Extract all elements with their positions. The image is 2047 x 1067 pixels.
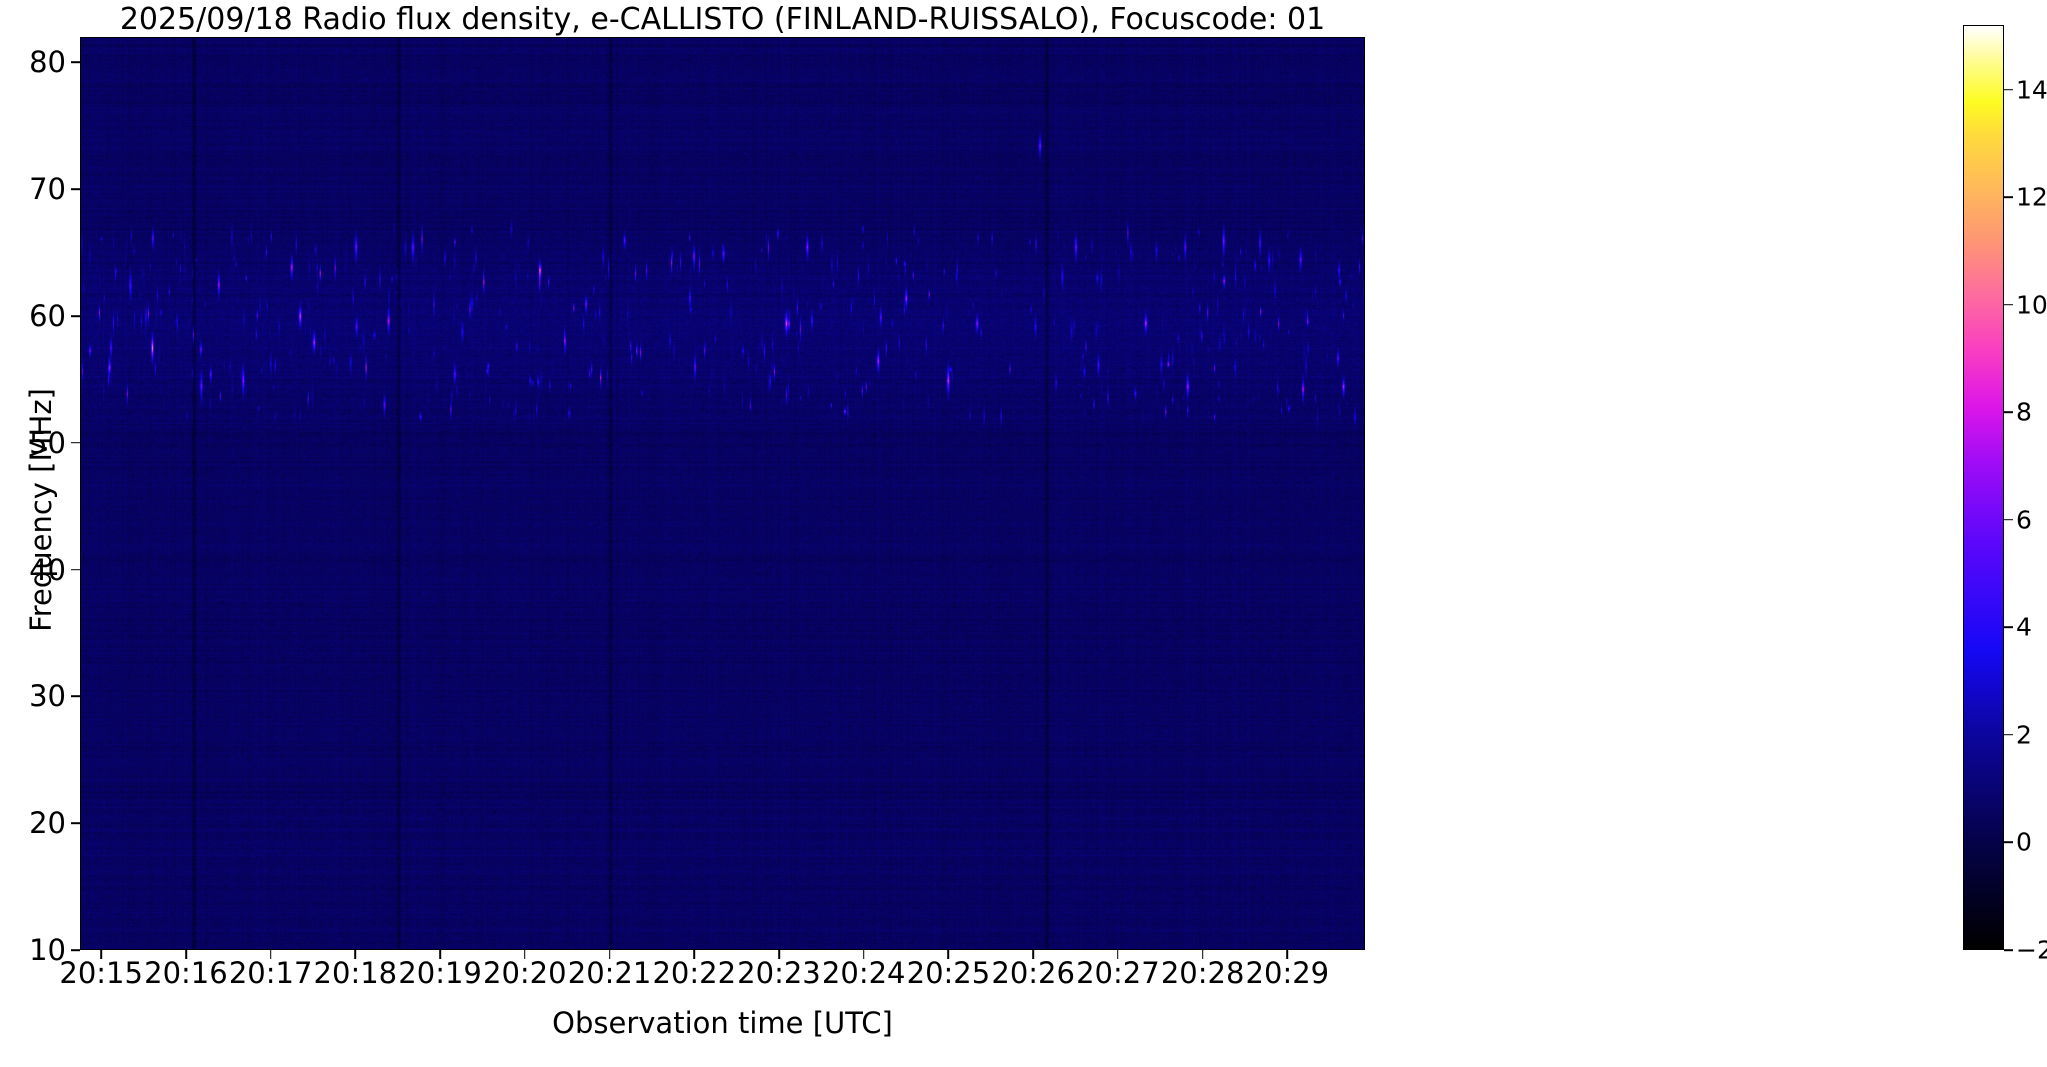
x-axis-label: Observation time [UTC]	[80, 1006, 1365, 1040]
x-tick-label: 20:18	[314, 956, 398, 990]
y-tick-label: 10	[2, 933, 66, 967]
colorbar-tick-label: −2	[2016, 936, 2047, 965]
colorbar-tick-mark	[2004, 627, 2013, 629]
colorbar-tick-mark	[2004, 734, 2013, 736]
y-tick-mark	[71, 696, 80, 698]
y-tick-label: 20	[2, 806, 66, 840]
x-tick-label: 20:20	[483, 956, 567, 990]
x-tick-label: 20:17	[229, 956, 313, 990]
x-tick-label: 20:27	[1076, 956, 1160, 990]
x-tick-label: 20:22	[652, 956, 736, 990]
colorbar-tick-label: 6	[2016, 505, 2032, 534]
colorbar-tick-mark	[2004, 842, 2013, 844]
y-tick-mark	[71, 442, 80, 444]
colorbar-tick-mark	[2004, 89, 2013, 91]
x-tick-label: 20:16	[144, 956, 228, 990]
x-tick-label: 20:19	[398, 956, 482, 990]
colorbar-tick-mark	[2004, 519, 2013, 521]
colorbar-tick-label: 12	[2016, 183, 2047, 212]
colorbar-gradient[interactable]	[1963, 25, 2004, 950]
spectrogram-plot-area[interactable]	[80, 37, 1365, 950]
colorbar-tick-mark	[2004, 304, 2013, 306]
colorbar-tick-label: 10	[2016, 290, 2047, 319]
y-tick-mark	[71, 949, 80, 951]
y-tick-label: 70	[2, 172, 66, 206]
y-tick-mark	[71, 315, 80, 317]
y-tick-mark	[71, 569, 80, 571]
y-tick-mark	[71, 188, 80, 190]
y-tick-mark	[71, 62, 80, 64]
colorbar-tick-label: 4	[2016, 613, 2032, 642]
colorbar-tick-mark	[2004, 949, 2013, 951]
x-tick-label: 20:26	[991, 956, 1075, 990]
x-tick-label: 20:23	[737, 956, 821, 990]
colorbar-tick-label: 0	[2016, 828, 2032, 857]
figure-canvas: 2025/09/18 Radio flux density, e-CALLIST…	[0, 0, 2047, 1067]
chart-title: 2025/09/18 Radio flux density, e-CALLIST…	[80, 2, 1365, 37]
y-axis-label: Frequency [MHz]	[24, 300, 58, 720]
colorbar-tick-mark	[2004, 411, 2013, 413]
x-tick-label: 20:21	[568, 956, 652, 990]
colorbar-tick-label: 8	[2016, 398, 2032, 427]
x-tick-label: 20:29	[1246, 956, 1330, 990]
x-tick-label: 20:25	[907, 956, 991, 990]
x-tick-label: 20:15	[59, 956, 143, 990]
y-tick-label: 80	[2, 45, 66, 79]
spectrogram-image	[81, 38, 1364, 949]
x-tick-label: 20:28	[1161, 956, 1245, 990]
colorbar-tick-label: 2	[2016, 720, 2032, 749]
colorbar-tick-mark	[2004, 196, 2013, 198]
x-tick-label: 20:24	[822, 956, 906, 990]
colorbar-tick-label: 14	[2016, 75, 2047, 104]
y-tick-mark	[71, 822, 80, 824]
